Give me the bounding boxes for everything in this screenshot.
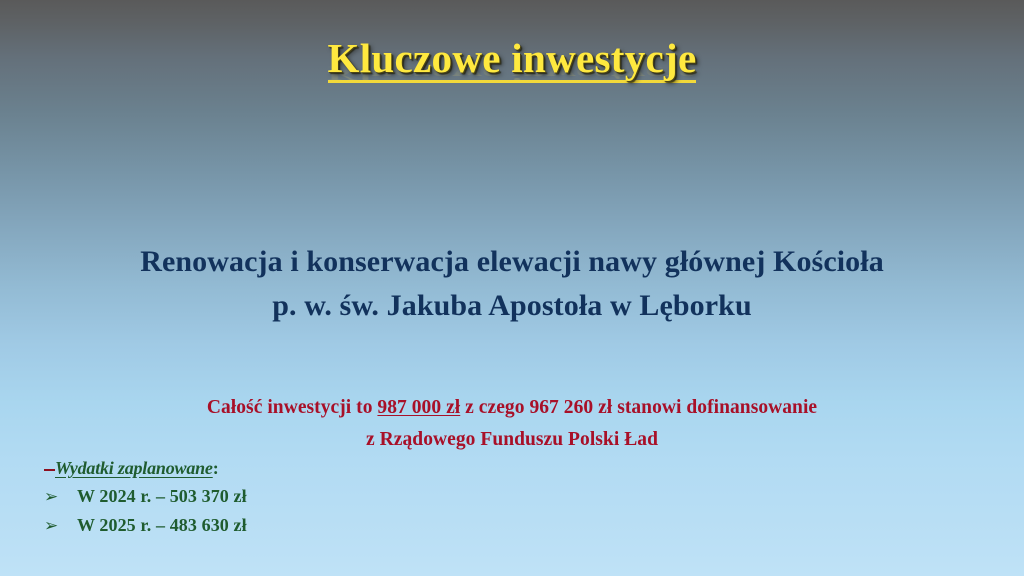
planned-expenses: Wydatki zaplanowane: ➢ W 2024 r. – 503 3… — [44, 459, 247, 535]
slide-title-reflection: Kluczowe inwestycje — [0, 84, 1024, 126]
funding-line-2: z Rządowego Funduszu Polski Ład — [0, 424, 1024, 456]
presentation-slide: Kluczowe inwestycje Kluczowe inwestycje … — [0, 0, 1024, 576]
funding-summary: Całość inwestycji to 987 000 zł z czego … — [0, 392, 1024, 455]
project-heading-line-2: p. w. św. Jakuba Apostoła w Lęborku — [0, 284, 1024, 328]
list-item: ➢ W 2025 r. – 483 630 zł — [44, 516, 247, 535]
funding-suffix: z czego 967 260 zł stanowi dofinansowani… — [460, 397, 817, 418]
funding-total-amount: 987 000 zł — [377, 397, 460, 418]
planned-expenses-title-label: Wydatki zaplanowane — [55, 458, 213, 478]
arrow-bullet-icon: ➢ — [44, 489, 77, 506]
project-heading: Renowacja i konserwacja elewacji nawy gł… — [0, 240, 1024, 328]
list-item: ➢ W 2024 r. – 503 370 zł — [44, 487, 247, 506]
slide-title-text: Kluczowe inwestycje — [328, 38, 697, 83]
funding-prefix: Całość inwestycji to — [207, 397, 378, 418]
expense-item-label: W 2025 r. – 483 630 zł — [77, 516, 247, 534]
expense-item-label: W 2024 r. – 503 370 zł — [77, 487, 247, 505]
planned-expenses-lead-rule — [44, 469, 55, 471]
arrow-bullet-icon: ➢ — [44, 518, 77, 535]
funding-line-1: Całość inwestycji to 987 000 zł z czego … — [0, 392, 1024, 424]
slide-title: Kluczowe inwestycje — [0, 38, 1024, 83]
planned-expenses-title: Wydatki zaplanowane: — [44, 459, 247, 477]
planned-expenses-title-colon: : — [213, 458, 219, 478]
project-heading-line-1: Renowacja i konserwacja elewacji nawy gł… — [0, 240, 1024, 284]
